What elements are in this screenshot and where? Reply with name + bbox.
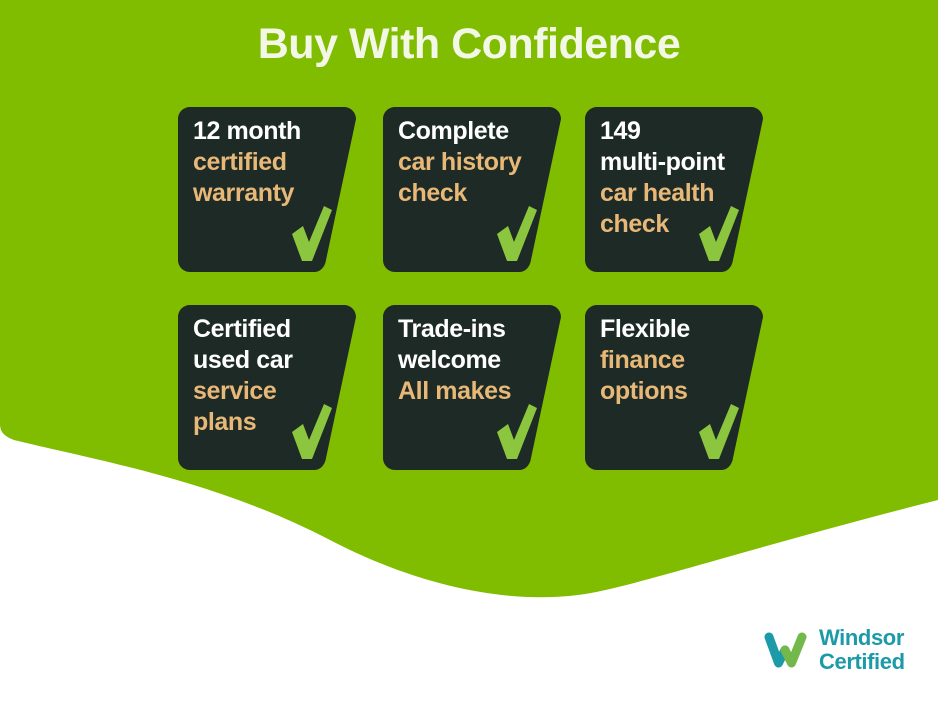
benefit-card-grid: 12 month certified warranty Complete car… [178,107,763,503]
benefit-card[interactable]: Trade-ins welcome All makes [383,305,561,470]
slide-canvas: Buy With Confidence 12 month certified w… [0,0,938,704]
card-text-block: Complete car history check [398,116,550,209]
checkmark-icon [493,402,539,462]
checkmark-icon [695,402,741,462]
logo-wordmark: Windsor Certified [819,626,905,674]
card-text-block: Trade-ins welcome All makes [398,314,550,407]
benefit-card[interactable]: 12 month certified warranty [178,107,356,272]
card-line: Complete [398,116,550,147]
card-line: certified [193,147,345,178]
logo-line-certified: Certified [819,650,905,674]
page-title: Buy With Confidence [0,17,938,71]
windsor-w-icon [764,626,812,674]
card-line: 149 [600,116,752,147]
benefit-card[interactable]: Certified used car service plans [178,305,356,470]
windsor-certified-logo[interactable]: Windsor Certified [764,626,905,674]
benefit-card-row-2: Certified used car service plans Trade-i… [178,305,763,503]
logo-line-windsor: Windsor [819,626,905,650]
card-text-block: 12 month certified warranty [193,116,345,209]
checkmark-icon [493,204,539,264]
card-line: finance [600,345,752,376]
checkmark-icon [288,204,334,264]
benefit-card-row-1: 12 month certified warranty Complete car… [178,107,763,305]
card-line: multi-point [600,147,752,178]
card-line: welcome [398,345,550,376]
card-text-block: Flexible finance options [600,314,752,407]
card-line: Trade-ins [398,314,550,345]
benefit-card[interactable]: 149 multi-point car health check [585,107,763,272]
checkmark-icon [288,402,334,462]
card-line: car history [398,147,550,178]
card-line: Certified [193,314,345,345]
card-line: Flexible [600,314,752,345]
checkmark-icon [695,204,741,264]
benefit-card[interactable]: Flexible finance options [585,305,763,470]
benefit-card[interactable]: Complete car history check [383,107,561,272]
card-line: used car [193,345,345,376]
card-line: 12 month [193,116,345,147]
